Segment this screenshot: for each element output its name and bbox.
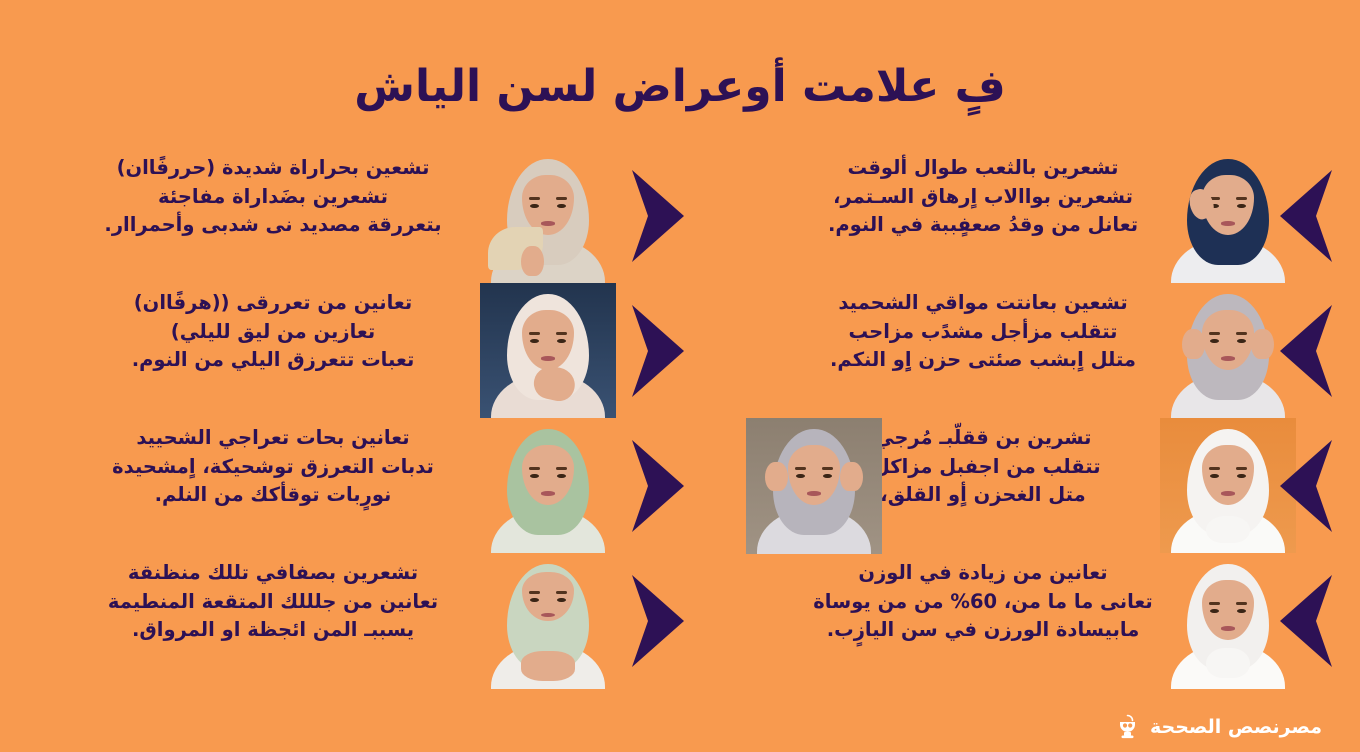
- mortar-and-pestle-icon: [1114, 713, 1141, 740]
- page-title: فٍ علامت أوعراض لسن الياش: [0, 62, 1360, 113]
- symptom-item-left: تعانين من تعررقى ((هرفًاان) تعازين من لي…: [30, 283, 670, 423]
- symptom-row: تشعين بحراراة شديدة (حررفًاان) تشعرين بض…: [0, 148, 1360, 288]
- symptom-text: تعانين من تعررقى ((هرفًاان) تعازين من لي…: [58, 289, 488, 375]
- symptom-item-left: تشعين بحراراة شديدة (حررفًاان) تشعرين بض…: [30, 148, 670, 288]
- symptom-row: تعانين من تعررقى ((هرفًاان) تعازين من لي…: [0, 283, 1360, 423]
- woman-fanning-herself-photo: [480, 148, 616, 284]
- symptom-text: تشعرين بصفافي تللك منظنقة تعانين من جللل…: [58, 559, 488, 645]
- chevron-marker: [1278, 170, 1334, 262]
- symptom-text: تشعرين بالثعب طوال ألوقت تشعرين بواالاب …: [768, 154, 1198, 240]
- infographic-canvas: فٍ علامت أوعراض لسن الياش تشعين بحراراة …: [0, 0, 1360, 752]
- symptom-item-left: تشعرين بصفافي تللك منظنقة تعانين من جللل…: [30, 553, 670, 693]
- woman-green-hijab-distress-photo: [480, 418, 616, 554]
- woman-with-headache-navy-hijab-photo: [1160, 148, 1296, 284]
- symptom-item-right: تشعرين بالثعب طوال ألوقت تشعرين بواالاب …: [690, 148, 1330, 288]
- symptom-text: تعانين من زيادة في الوزن تعانى ما ما من،…: [768, 559, 1198, 645]
- chevron-marker: [630, 440, 686, 532]
- woman-weight-gain-white-hijab-photo: [1160, 553, 1296, 689]
- symptom-item-right: تشعين بعانتت مواقي الشحميد تتقلب مزأجل م…: [690, 283, 1330, 423]
- chevron-marker: [630, 305, 686, 397]
- chevron-marker: [1278, 305, 1334, 397]
- brand-logo: مصرنصص الصححة: [1114, 713, 1322, 740]
- symptom-text: تشعين بعانتت مواقي الشحميد تتقلب مزأجل م…: [768, 289, 1198, 375]
- brand-name: مصرنصص الصححة: [1150, 716, 1322, 738]
- symptom-text: تعانين بحات تعراجي الشحييد تدبات التعرزق…: [58, 424, 488, 510]
- woman-mood-swings-grey-hijab-photo: [1160, 283, 1296, 419]
- chevron-marker: [1278, 440, 1334, 532]
- symptom-item-left: تعانين بحات تعراجي الشحييد تدبات التعرزق…: [30, 418, 670, 558]
- chevron-marker: [630, 575, 686, 667]
- woman-anxious-grey-hijab-photo: [746, 418, 882, 554]
- woman-night-sweats-outdoors-photo: [480, 283, 616, 419]
- chevron-marker: [1278, 575, 1334, 667]
- symptom-item-right: تعانين من زيادة في الوزن تعانى ما ما من،…: [690, 553, 1330, 693]
- symptom-row: تشعرين بصفافي تللك منظنقة تعانين من جللل…: [0, 553, 1360, 693]
- symptom-item-right: تشرين بن ققلّبـ مُرجي تتقلب من اجفبل مزا…: [690, 418, 1330, 558]
- symptom-row: تعانين بحات تعراجي الشحييد تدبات التعرزق…: [0, 418, 1360, 558]
- woman-holding-stomach-photo: [480, 553, 616, 689]
- symptom-text: تشعين بحراراة شديدة (حررفًاان) تشعرين بض…: [58, 154, 488, 240]
- chevron-marker: [630, 170, 686, 262]
- woman-white-hijab-tissue-photo: [1160, 418, 1296, 554]
